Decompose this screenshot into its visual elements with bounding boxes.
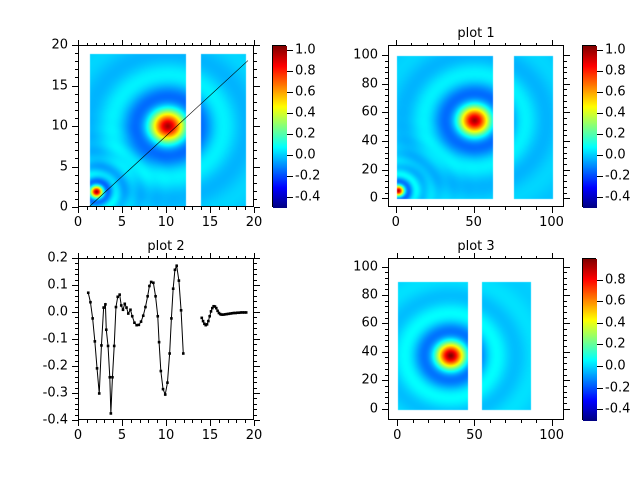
y-tick-minor-right xyxy=(564,272,567,273)
y-tick-major xyxy=(72,366,78,367)
y-tick-major xyxy=(382,409,388,410)
x-tick-minor xyxy=(413,420,414,423)
y-tick-minor-right xyxy=(254,398,257,399)
x-tick-label: 10 xyxy=(158,428,175,443)
plot-area-panel-bottom-left xyxy=(78,258,254,420)
y-tick-minor-right xyxy=(564,301,567,302)
y-tick-minor xyxy=(75,280,78,281)
y-tick-minor-right xyxy=(254,183,257,184)
y-tick-minor xyxy=(75,361,78,362)
y-tick-major-right xyxy=(564,141,570,142)
y-tick-major-right xyxy=(254,45,260,46)
x-tick-minor xyxy=(536,207,537,210)
y-tick-minor-right xyxy=(564,318,567,319)
y-tick-minor-right xyxy=(564,329,567,330)
x-tick-major-top xyxy=(397,253,398,259)
y-tick-label: 20 xyxy=(0,162,378,177)
x-tick-minor xyxy=(192,420,193,423)
x-tick-minor xyxy=(104,420,105,423)
x-tick-major xyxy=(78,420,79,426)
y-tick-minor-right xyxy=(564,335,567,336)
y-tick-major xyxy=(382,295,388,296)
y-tick-minor-right xyxy=(564,187,567,188)
y-tick-minor-right xyxy=(254,158,257,159)
colorbar-tick xyxy=(597,197,603,198)
data-point-marker xyxy=(144,306,147,309)
colorbar-tick xyxy=(597,92,603,93)
colorbar-tick-label: -0.2 xyxy=(605,168,630,183)
x-tick-minor xyxy=(104,207,105,210)
y-tick-major-right xyxy=(564,170,570,171)
x-tick-minor-top xyxy=(184,43,185,46)
y-tick-major-right xyxy=(564,295,570,296)
colorbar-tick xyxy=(287,92,293,93)
colorbar-tick-label: 0.4 xyxy=(605,315,626,330)
x-tick-minor-top xyxy=(521,256,522,259)
y-tick-minor xyxy=(385,312,388,313)
x-tick-label: 20 xyxy=(246,215,263,230)
y-tick-label: 80 xyxy=(0,287,378,302)
x-tick-minor xyxy=(148,420,149,423)
y-tick-minor-right xyxy=(564,181,567,182)
x-tick-major xyxy=(122,420,123,426)
x-tick-minor xyxy=(521,420,522,423)
x-tick-label: 0 xyxy=(74,215,82,230)
colorbar-tick-label: 0.0 xyxy=(605,147,626,162)
y-tick-minor xyxy=(385,158,388,159)
x-tick-minor xyxy=(458,207,459,210)
y-tick-minor-right xyxy=(564,363,567,364)
y-tick-minor xyxy=(385,278,388,279)
x-tick-minor xyxy=(157,207,158,210)
x-tick-label: 5 xyxy=(118,215,126,230)
y-tick-minor xyxy=(385,193,388,194)
y-tick-minor xyxy=(385,181,388,182)
x-tick-minor-top xyxy=(140,43,141,46)
y-tick-minor xyxy=(385,397,388,398)
y-tick-label: 0 xyxy=(0,191,378,206)
y-tick-minor xyxy=(385,72,388,73)
y-tick-minor xyxy=(385,335,388,336)
y-tick-minor-right xyxy=(254,94,257,95)
x-tick-minor xyxy=(219,420,220,423)
data-point-marker xyxy=(152,281,155,284)
x-tick-minor-top xyxy=(428,256,429,259)
x-tick-minor xyxy=(175,420,176,423)
x-tick-major xyxy=(166,420,167,426)
y-tick-label: 60 xyxy=(0,105,378,120)
x-tick-major-top xyxy=(210,40,211,46)
y-tick-minor xyxy=(385,357,388,358)
y-tick-major-right xyxy=(254,339,260,340)
y-tick-minor-right xyxy=(564,135,567,136)
y-tick-major xyxy=(382,112,388,113)
y-tick-major xyxy=(72,45,78,46)
colorbar-tick-label: 0.0 xyxy=(605,359,626,374)
x-tick-minor xyxy=(520,207,521,210)
y-tick-minor-right xyxy=(254,150,257,151)
y-tick-minor-right xyxy=(564,147,567,148)
x-tick-major-top xyxy=(122,40,123,46)
x-tick-minor-top xyxy=(192,43,193,46)
colorbar-panel-top-right xyxy=(582,45,596,207)
x-tick-minor-top xyxy=(489,43,490,46)
y-tick-minor xyxy=(385,147,388,148)
data-point-marker xyxy=(210,310,213,313)
y-tick-label: -0.2 xyxy=(0,359,68,374)
y-tick-major xyxy=(72,312,78,313)
x-tick-minor xyxy=(96,420,97,423)
x-tick-label: 100 xyxy=(539,428,564,443)
x-tick-label: 10 xyxy=(158,215,175,230)
x-tick-minor-top xyxy=(520,43,521,46)
x-tick-minor xyxy=(228,420,229,423)
colorbar-panel-top-left xyxy=(272,45,286,207)
y-tick-minor-right xyxy=(564,278,567,279)
y-tick-minor xyxy=(385,363,388,364)
y-tick-minor-right xyxy=(564,312,567,313)
y-tick-label: 80 xyxy=(0,76,378,91)
x-tick-minor-top xyxy=(490,256,491,259)
colorbar-tick-unlabeled xyxy=(597,50,603,51)
x-tick-minor xyxy=(443,207,444,210)
y-tick-minor xyxy=(385,375,388,376)
y-tick-major xyxy=(72,339,78,340)
y-tick-minor-right xyxy=(564,89,567,90)
x-tick-minor-top xyxy=(219,43,220,46)
y-tick-minor-right xyxy=(254,388,257,389)
x-tick-label: 0 xyxy=(393,428,401,443)
x-tick-major-top xyxy=(474,253,475,259)
y-tick-minor-right xyxy=(564,306,567,307)
y-tick-minor-right xyxy=(564,289,567,290)
y-tick-label: 100 xyxy=(0,48,378,63)
y-tick-minor xyxy=(75,158,78,159)
y-tick-major xyxy=(72,393,78,394)
x-tick-label: 20 xyxy=(246,428,263,443)
y-tick-major-right xyxy=(564,112,570,113)
line-series-group xyxy=(79,259,254,420)
y-tick-major-right xyxy=(564,267,570,268)
x-tick-minor xyxy=(192,207,193,210)
x-tick-minor-top xyxy=(157,43,158,46)
colorbar-tick-label: -0.4 xyxy=(605,189,630,204)
y-tick-major-right xyxy=(254,420,260,421)
colorbar-tick xyxy=(597,280,603,281)
data-point-marker xyxy=(178,279,181,282)
y-tick-major-right xyxy=(564,198,570,199)
x-tick-major-top xyxy=(396,40,397,46)
x-tick-minor-top xyxy=(245,43,246,46)
data-point-marker xyxy=(98,392,101,395)
plot-area-panel-top-left xyxy=(78,45,254,207)
y-tick-minor xyxy=(75,183,78,184)
x-tick-major xyxy=(474,207,475,213)
x-tick-major xyxy=(210,207,211,213)
x-tick-minor xyxy=(489,207,490,210)
x-tick-minor xyxy=(157,420,158,423)
y-tick-minor-right xyxy=(564,72,567,73)
y-tick-minor-right xyxy=(564,392,567,393)
x-tick-label: 100 xyxy=(539,215,564,230)
x-tick-label: 50 xyxy=(465,215,482,230)
x-tick-minor xyxy=(490,420,491,423)
colorbar-tick-label: 0.4 xyxy=(605,105,626,120)
x-tick-label: 15 xyxy=(202,215,219,230)
figure-canvas: 05101520051015201.00.80.60.40.20.0-0.2-0… xyxy=(0,0,640,480)
y-tick-minor-right xyxy=(254,69,257,70)
x-tick-minor xyxy=(131,207,132,210)
colorbar-tick xyxy=(287,71,293,72)
y-tick-major xyxy=(72,420,78,421)
y-tick-label: 100 xyxy=(0,259,378,274)
x-tick-minor-top xyxy=(458,43,459,46)
y-tick-minor-right xyxy=(564,369,567,370)
y-tick-minor xyxy=(385,175,388,176)
x-tick-minor-top xyxy=(443,43,444,46)
x-tick-major-top xyxy=(474,40,475,46)
y-tick-label: 40 xyxy=(0,134,378,149)
y-tick-minor-right xyxy=(564,375,567,376)
x-tick-minor-top xyxy=(148,43,149,46)
x-tick-minor xyxy=(148,207,149,210)
y-tick-minor xyxy=(385,329,388,330)
y-tick-minor-right xyxy=(254,307,257,308)
x-tick-minor-top xyxy=(113,43,114,46)
colorbar-tick xyxy=(287,155,293,156)
data-point-marker xyxy=(162,388,165,391)
y-tick-major xyxy=(382,267,388,268)
colorbar-tick xyxy=(597,176,603,177)
y-tick-minor xyxy=(385,118,388,119)
x-tick-minor xyxy=(505,420,506,423)
data-point-marker xyxy=(127,312,130,315)
y-tick-minor xyxy=(385,284,388,285)
y-tick-minor xyxy=(75,150,78,151)
colorbar-tick-label: 1.0 xyxy=(605,43,626,58)
x-tick-major-top xyxy=(78,40,79,46)
y-tick-minor xyxy=(385,318,388,319)
y-tick-minor xyxy=(385,95,388,96)
y-tick-minor xyxy=(75,69,78,70)
x-tick-minor xyxy=(245,420,246,423)
y-tick-minor xyxy=(75,94,78,95)
x-tick-minor xyxy=(131,420,132,423)
y-tick-minor xyxy=(385,369,388,370)
y-tick-major xyxy=(382,84,388,85)
x-tick-major xyxy=(474,420,475,426)
x-tick-minor xyxy=(113,420,114,423)
x-tick-major-top xyxy=(166,40,167,46)
y-tick-minor-right xyxy=(564,95,567,96)
x-tick-minor-top xyxy=(201,43,202,46)
x-tick-minor-top xyxy=(131,43,132,46)
x-tick-minor xyxy=(427,207,428,210)
x-tick-major-top xyxy=(552,253,553,259)
y-tick-minor-right xyxy=(564,403,567,404)
x-tick-minor-top xyxy=(87,43,88,46)
data-point-marker xyxy=(123,303,126,306)
x-tick-label: 15 xyxy=(202,428,219,443)
y-tick-major xyxy=(382,323,388,324)
y-tick-major xyxy=(72,126,78,127)
panel-title: plot 1 xyxy=(457,26,494,41)
y-tick-minor xyxy=(385,340,388,341)
panel-title: plot 2 xyxy=(147,239,184,254)
x-tick-minor-top xyxy=(536,43,537,46)
y-tick-minor-right xyxy=(564,118,567,119)
colorbar-tick-label: 0.8 xyxy=(605,272,626,287)
colorbar-tick xyxy=(597,344,603,345)
colorbar-tick-label: 0.2 xyxy=(605,126,626,141)
y-tick-minor xyxy=(75,274,78,275)
data-point-marker xyxy=(94,340,97,343)
data-point-marker xyxy=(125,306,128,309)
x-tick-major xyxy=(397,420,398,426)
plot-area-panel-bottom-right xyxy=(388,258,564,420)
y-tick-minor xyxy=(385,386,388,387)
colorbar-tick-label: 0.8 xyxy=(605,64,626,79)
colorbar-tick xyxy=(597,301,603,302)
x-tick-minor xyxy=(184,420,185,423)
y-tick-minor xyxy=(385,289,388,290)
y-tick-minor xyxy=(75,398,78,399)
y-tick-minor xyxy=(385,107,388,108)
y-tick-minor-right xyxy=(564,284,567,285)
y-tick-major xyxy=(382,141,388,142)
x-tick-minor-top xyxy=(505,43,506,46)
y-tick-minor xyxy=(385,187,388,188)
y-tick-minor-right xyxy=(564,101,567,102)
y-tick-minor xyxy=(385,78,388,79)
x-tick-minor-top xyxy=(411,43,412,46)
colorbar-tick-label: -0.2 xyxy=(605,380,630,395)
y-tick-major-right xyxy=(564,323,570,324)
colorbar-tick xyxy=(597,409,603,410)
colorbar-tick-label: -0.4 xyxy=(605,402,630,417)
data-point-marker xyxy=(215,307,218,310)
y-tick-minor xyxy=(75,388,78,389)
y-tick-minor xyxy=(385,306,388,307)
y-tick-label: -0.3 xyxy=(0,386,68,401)
data-point-marker xyxy=(96,367,99,370)
y-tick-major-right xyxy=(564,84,570,85)
x-tick-minor xyxy=(87,420,88,423)
y-tick-major xyxy=(382,352,388,353)
x-tick-label: 0 xyxy=(74,428,82,443)
data-point-marker xyxy=(115,306,118,309)
data-point-marker xyxy=(129,308,132,311)
y-tick-minor-right xyxy=(564,130,567,131)
y-tick-minor-right xyxy=(564,164,567,165)
colorbar-tick xyxy=(597,366,603,367)
x-tick-major xyxy=(552,420,553,426)
x-tick-label: 5 xyxy=(118,428,126,443)
colorbar-gradient xyxy=(583,259,597,421)
plot-area-panel-top-right xyxy=(388,45,564,207)
x-tick-label: 50 xyxy=(466,428,483,443)
y-tick-major xyxy=(72,207,78,208)
panel-title: plot 3 xyxy=(457,239,494,254)
data-point-marker xyxy=(164,393,167,396)
x-tick-minor xyxy=(201,420,202,423)
x-tick-major xyxy=(166,207,167,213)
y-tick-label: 40 xyxy=(0,344,378,359)
y-tick-minor xyxy=(385,135,388,136)
y-tick-major-right xyxy=(254,366,260,367)
y-tick-label: 20 xyxy=(0,373,378,388)
x-tick-minor xyxy=(113,207,114,210)
x-tick-minor-top xyxy=(104,43,105,46)
y-tick-major xyxy=(382,198,388,199)
y-tick-minor-right xyxy=(254,102,257,103)
colorbar-tick xyxy=(597,71,603,72)
colorbar-panel-bottom-right xyxy=(582,258,596,420)
data-point-marker xyxy=(245,311,248,314)
x-tick-minor xyxy=(87,207,88,210)
x-tick-minor xyxy=(536,420,537,423)
y-tick-minor xyxy=(75,334,78,335)
y-tick-major xyxy=(72,285,78,286)
y-tick-minor-right xyxy=(254,334,257,335)
y-tick-minor xyxy=(385,403,388,404)
x-tick-minor xyxy=(459,420,460,423)
x-tick-minor-top xyxy=(459,256,460,259)
colorbar-tick xyxy=(597,388,603,389)
x-tick-major xyxy=(78,207,79,213)
y-tick-minor-right xyxy=(564,61,567,62)
x-tick-minor xyxy=(96,207,97,210)
y-tick-minor xyxy=(385,67,388,68)
colorbar-tick-label: 0.0 xyxy=(295,147,316,162)
y-tick-minor-right xyxy=(564,340,567,341)
colorbar-tick xyxy=(597,323,603,324)
y-tick-minor xyxy=(385,61,388,62)
y-tick-major-right xyxy=(254,285,260,286)
data-point-marker xyxy=(102,306,105,309)
colorbar-tick xyxy=(597,155,603,156)
y-tick-minor-right xyxy=(564,193,567,194)
x-tick-minor-top xyxy=(505,256,506,259)
x-tick-minor xyxy=(236,420,237,423)
y-tick-label: 10 xyxy=(0,119,68,134)
y-tick-minor-right xyxy=(564,357,567,358)
y-tick-minor-right xyxy=(254,280,257,281)
x-tick-minor xyxy=(184,207,185,210)
y-tick-minor xyxy=(385,301,388,302)
x-tick-major xyxy=(396,207,397,213)
y-tick-minor xyxy=(385,101,388,102)
y-tick-minor xyxy=(385,124,388,125)
y-tick-label: 0 xyxy=(0,401,378,416)
data-point-marker xyxy=(104,303,107,306)
colorbar-tick xyxy=(597,113,603,114)
x-tick-minor-top xyxy=(236,43,237,46)
x-tick-minor xyxy=(505,207,506,210)
y-tick-minor-right xyxy=(254,274,257,275)
colorbar-gradient xyxy=(273,46,287,208)
y-tick-minor-right xyxy=(564,153,567,154)
y-tick-major-right xyxy=(564,55,570,56)
data-point-marker xyxy=(120,304,123,307)
y-tick-minor-right xyxy=(564,175,567,176)
x-tick-minor xyxy=(201,207,202,210)
x-tick-major xyxy=(210,420,211,426)
y-tick-major xyxy=(382,55,388,56)
colorbar-tick xyxy=(597,134,603,135)
x-tick-minor xyxy=(236,207,237,210)
y-tick-minor xyxy=(385,130,388,131)
